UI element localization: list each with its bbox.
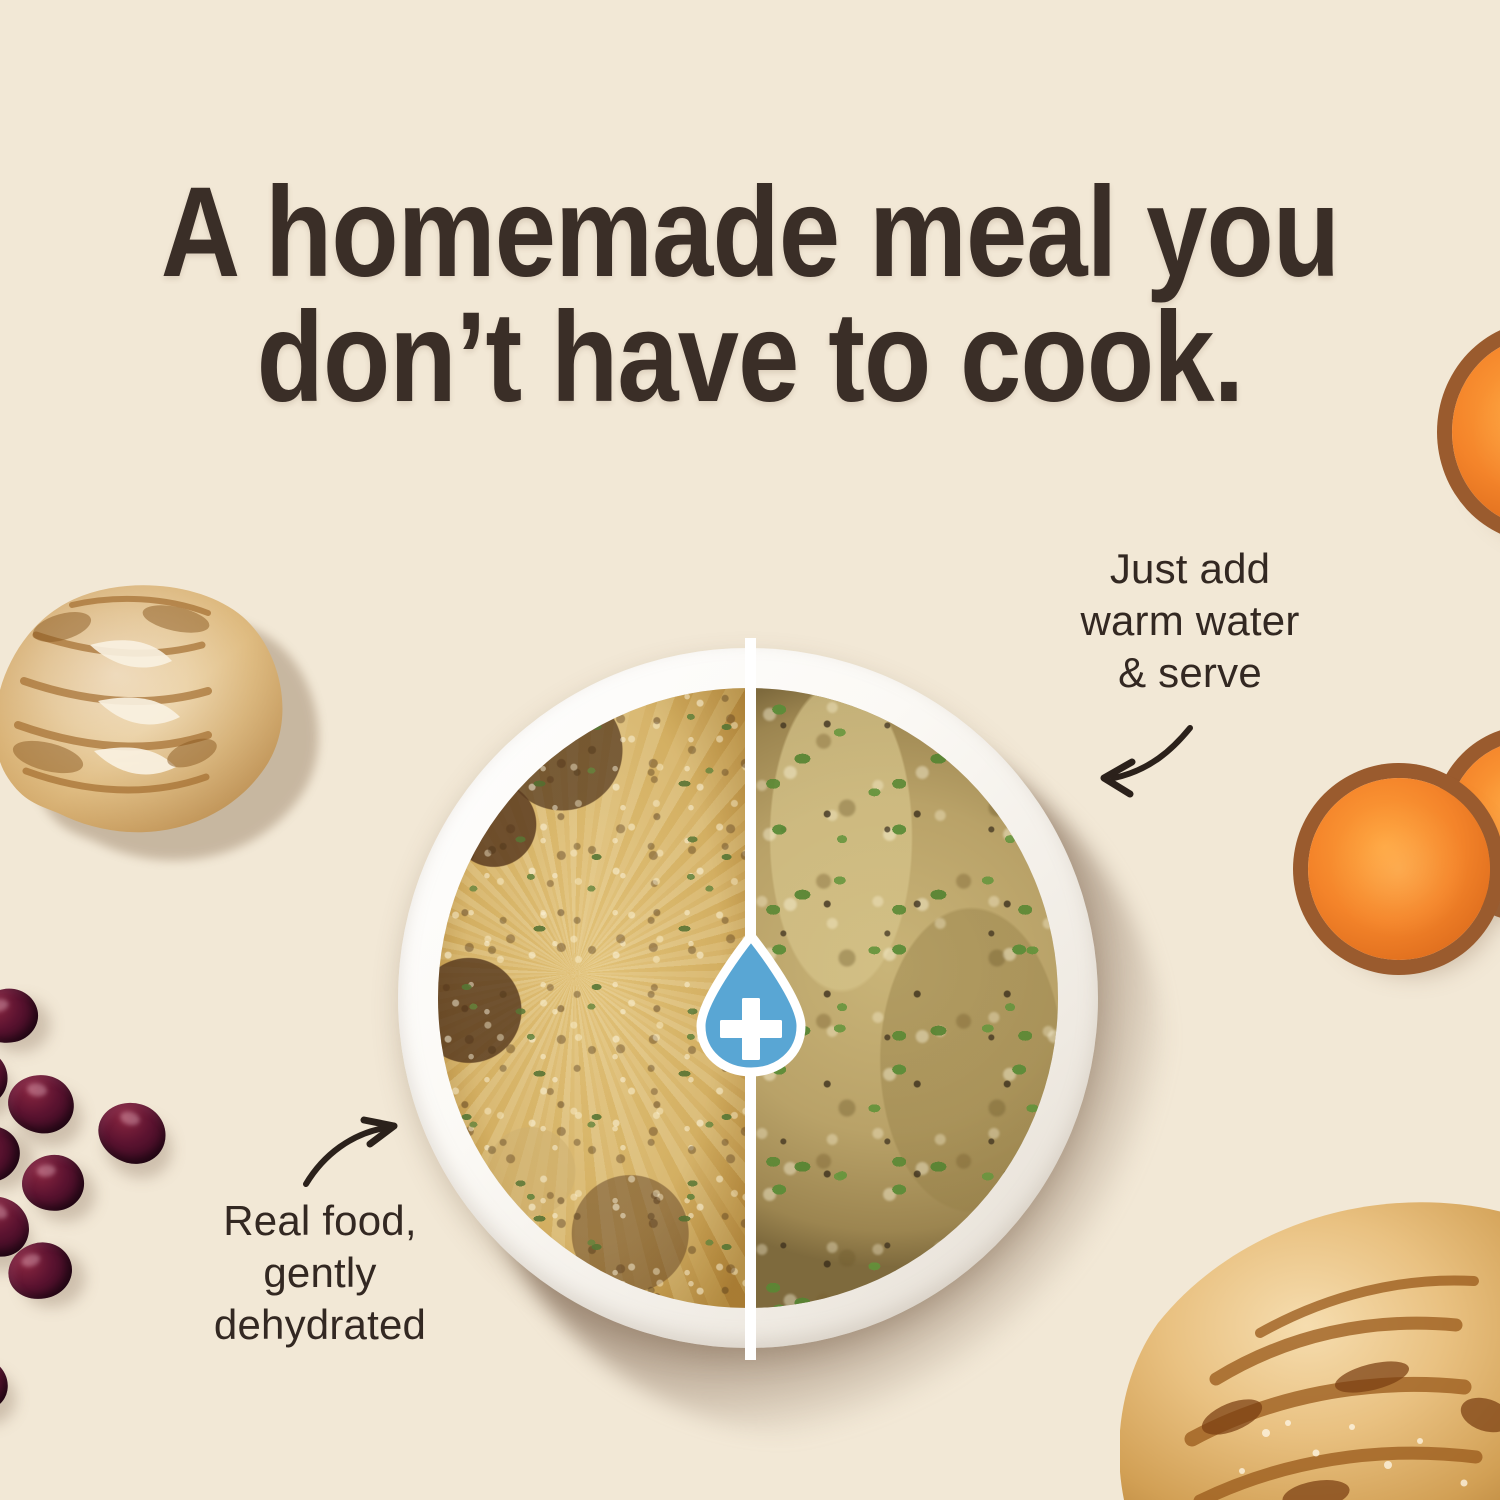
annotation-just-add-warm-water: Just add warm water & serve [1035,543,1345,699]
annotation-right-line-2: warm water [1035,595,1345,647]
annotation-right-line-1: Just add [1035,543,1345,595]
annotation-real-food-gently-dehydrated: Real food, gently dehydrated [170,1195,470,1351]
annotation-left-line-3: dehydrated [170,1299,470,1351]
annotation-right-line-3: & serve [1035,647,1345,699]
seared-cod-fillet-image [0,485,340,905]
headline-line-1: A homemade meal you [105,170,1395,295]
headline-line-2: don’t have to cook. [105,295,1395,420]
page-title: A homemade meal you don’t have to cook. [105,170,1395,421]
curved-arrow-up-right-icon [298,1108,418,1208]
water-drop-plus-icon [692,930,810,1078]
curved-arrow-down-left-icon [1078,716,1208,816]
roasted-chicken-breast-image [1120,1165,1500,1500]
annotation-left-line-2: gently [170,1247,470,1299]
ad-canvas: A homemade meal you don’t have to cook. [0,0,1500,1500]
